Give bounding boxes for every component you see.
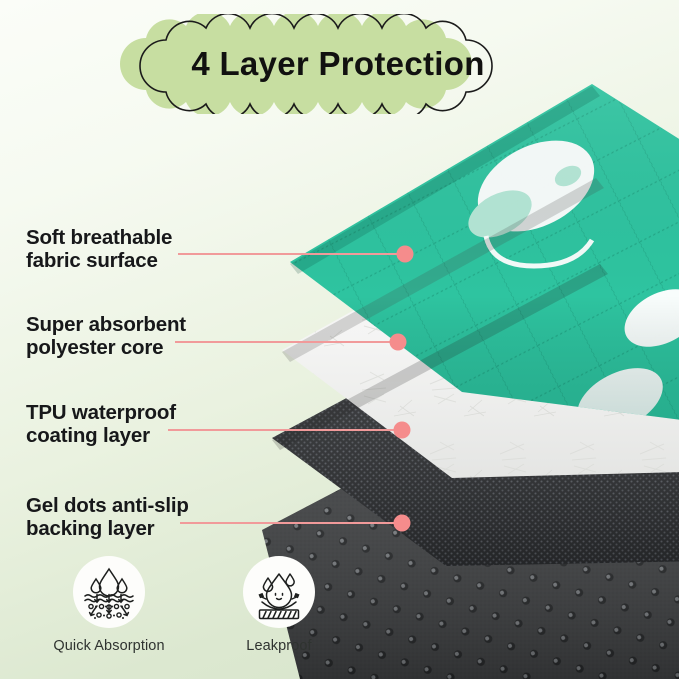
callout-tpu: TPU waterproof coating layer bbox=[26, 401, 176, 447]
callout-fabric-line2: fabric surface bbox=[26, 249, 172, 272]
feature-row: Quick Absorption bbox=[0, 556, 679, 674]
callout-fabric: Soft breathable fabric surface bbox=[26, 226, 172, 272]
feature-leakproof-label: Leakproof bbox=[194, 638, 364, 654]
callout-core-line2: polyester core bbox=[26, 336, 186, 359]
leader-line-backing bbox=[180, 522, 403, 524]
callout-dot-fabric bbox=[397, 246, 414, 263]
page-title: 4 Layer Protection bbox=[112, 14, 564, 114]
feature-leakproof: Leakproof bbox=[194, 556, 364, 654]
callout-dot-backing bbox=[394, 515, 411, 532]
callout-dot-tpu bbox=[394, 422, 411, 439]
callout-backing: Gel dots anti-slip backing layer bbox=[26, 494, 189, 540]
callout-fabric-line1: Soft breathable bbox=[26, 226, 172, 249]
feature-quick-absorption-label: Quick Absorption bbox=[24, 638, 194, 654]
water-absorption-icon bbox=[73, 556, 145, 628]
callout-dot-core bbox=[390, 334, 407, 351]
title-badge: 4 Layer Protection bbox=[112, 14, 564, 114]
feature-quick-absorption: Quick Absorption bbox=[24, 556, 194, 654]
callout-core: Super absorbent polyester core bbox=[26, 313, 186, 359]
leakproof-droplet-icon bbox=[243, 556, 315, 628]
leader-line-core bbox=[175, 341, 399, 343]
callout-backing-line2: backing layer bbox=[26, 517, 189, 540]
callout-core-line1: Super absorbent bbox=[26, 313, 186, 336]
callout-tpu-line2: coating layer bbox=[26, 424, 176, 447]
callout-tpu-line1: TPU waterproof bbox=[26, 401, 176, 424]
callout-backing-line1: Gel dots anti-slip bbox=[26, 494, 189, 517]
infographic-canvas: 4 Layer Protection Soft breathable fabri… bbox=[0, 0, 679, 679]
leader-line-tpu bbox=[168, 429, 403, 431]
leader-line-fabric bbox=[178, 253, 406, 255]
